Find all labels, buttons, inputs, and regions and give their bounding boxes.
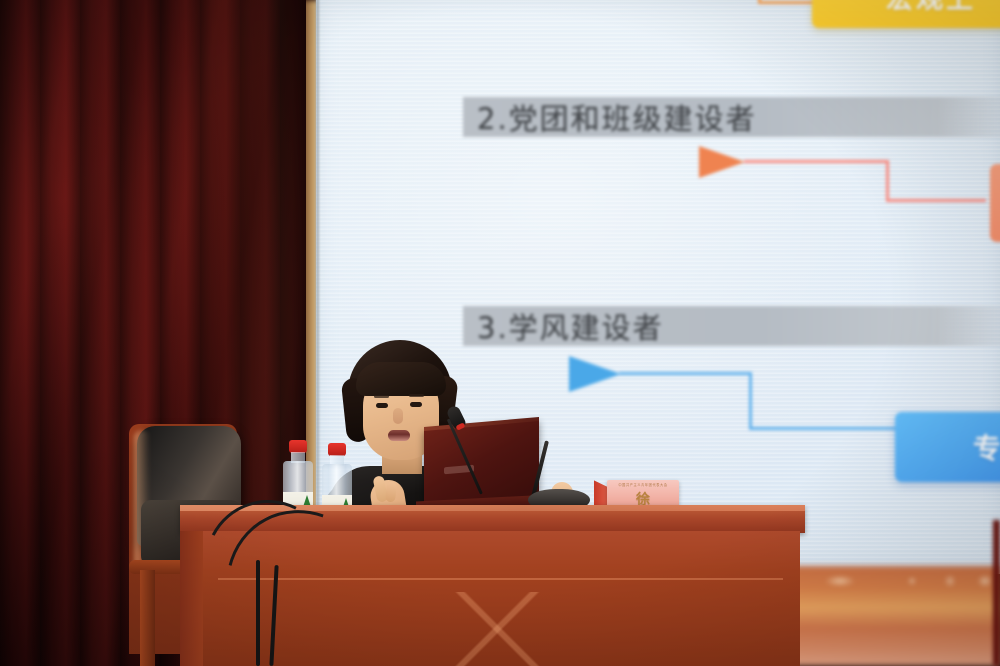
chair-leg: [140, 570, 155, 666]
nameplate-header: 中国共产主义青年团代表大会: [611, 483, 675, 488]
slide-chip-section-3-label: 专: [895, 427, 1000, 467]
presenter-mouth: [388, 430, 410, 441]
slide-chip-section-3: 专: [895, 412, 1000, 482]
play-triangle-icon-orange: [699, 146, 745, 178]
connector-line-section-2-b: [886, 160, 889, 202]
connector-line-section-2-a: [744, 160, 889, 163]
slide-chip-section-2: [990, 164, 1000, 242]
presenter-eyebrow-left: [374, 395, 389, 398]
connector-line-section-3-b: [749, 372, 752, 430]
stage-floor-markings: [800, 570, 1000, 592]
slide-chip-section-1: 宏观上: [812, 0, 1000, 28]
right-wall-edge: [993, 520, 1000, 666]
connector-line-section-1-horizontal: [758, 1, 814, 4]
slide-heading-section-2-label: 2.党团和班级建设者: [463, 96, 757, 138]
presenter-eye-left: [376, 403, 388, 408]
connector-line-section-3-c: [749, 427, 899, 430]
connector-line-section-3-a: [619, 372, 752, 375]
desk-cable-drop-1: [256, 560, 260, 666]
presenter-fringe: [356, 362, 446, 396]
photograph-scene: 宏观上 2.党团和班级建设者 3.学风建设者 专: [0, 0, 1000, 666]
presenter-eye-right: [410, 402, 422, 407]
presenter-eyebrow-right: [409, 394, 424, 397]
slide-heading-section-2: 2.党团和班级建设者: [463, 97, 1000, 137]
presenter-nose: [393, 408, 403, 424]
connector-line-section-2-c: [886, 199, 986, 202]
slide-chip-section-1-label: 宏观上: [812, 0, 976, 16]
